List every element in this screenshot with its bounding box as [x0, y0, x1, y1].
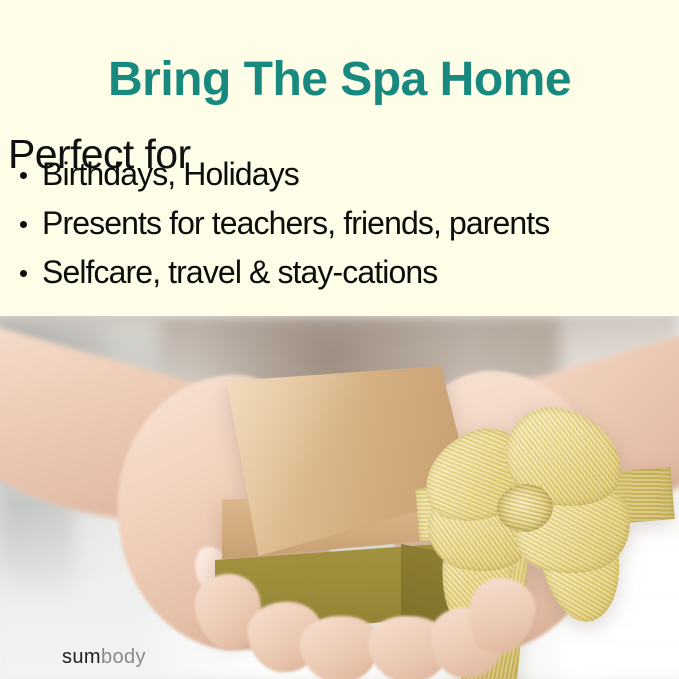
- text-panel: Bring The Spa Home Perfect for Birthdays…: [0, 0, 679, 316]
- brand-logo-sum: sum: [62, 646, 101, 668]
- list-item: Presents for teachers, friends, parents: [14, 199, 679, 248]
- brand-logo-body: body: [101, 646, 146, 668]
- marketing-graphic: Bring The Spa Home Perfect for Birthdays…: [0, 0, 679, 679]
- benefits-list: Birthdays, Holidays Presents for teacher…: [14, 150, 679, 297]
- list-item: Birthdays, Holidays: [14, 150, 679, 199]
- brand-logo: sumbody: [62, 646, 146, 668]
- list-item: Selfcare, travel & stay-cations: [14, 248, 679, 297]
- photo-background-chair-leg: [4, 491, 74, 611]
- product-photo: [0, 316, 679, 679]
- page-title: Bring The Spa Home: [0, 52, 679, 108]
